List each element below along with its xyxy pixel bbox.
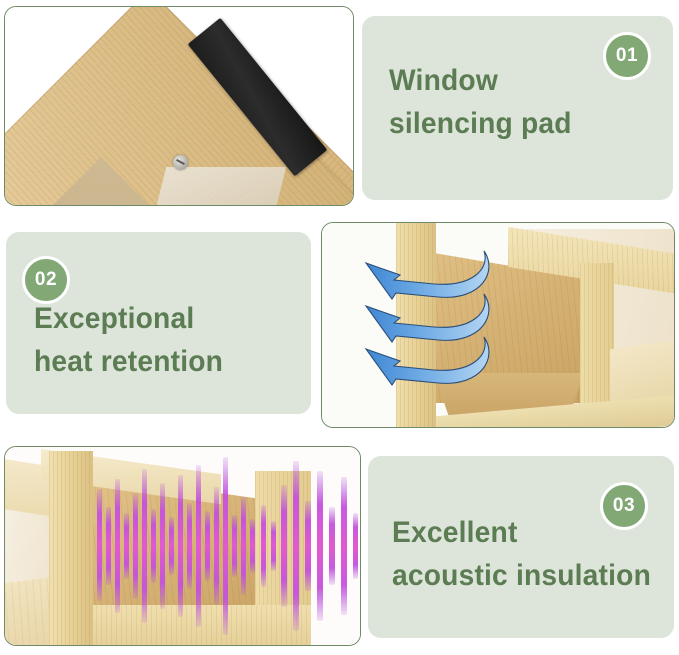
feature-photo-window-silencing-pad [4, 6, 354, 206]
wood-frame-corner-illustration [5, 7, 353, 205]
feature-photo-acoustic-insulation [4, 446, 361, 646]
feature-text-panel-3: 03 Excellent acoustic insulation [368, 456, 674, 638]
heat-flow-arrows-icon [322, 223, 675, 428]
feature-title-3: Excellent acoustic insulation [392, 512, 651, 597]
feature-title-1: Window silencing pad [389, 60, 572, 145]
feature-text-panel-2: 02 Exceptional heat retention [6, 232, 311, 414]
feature-photo-heat-retention [321, 222, 675, 428]
feature-number-badge-01: 01 [603, 32, 651, 80]
feature-text-panel-1: 01 Window silencing pad [362, 16, 673, 200]
feature-title-2: Exceptional heat retention [34, 298, 223, 383]
feature-number-badge-02: 02 [22, 256, 70, 304]
feature-infographic: 01 Window silencing pad 02 Exceptional h… [0, 0, 679, 655]
sound-wave-icon [5, 447, 361, 646]
screw-icon [173, 155, 188, 170]
glass-pane [144, 167, 286, 205]
